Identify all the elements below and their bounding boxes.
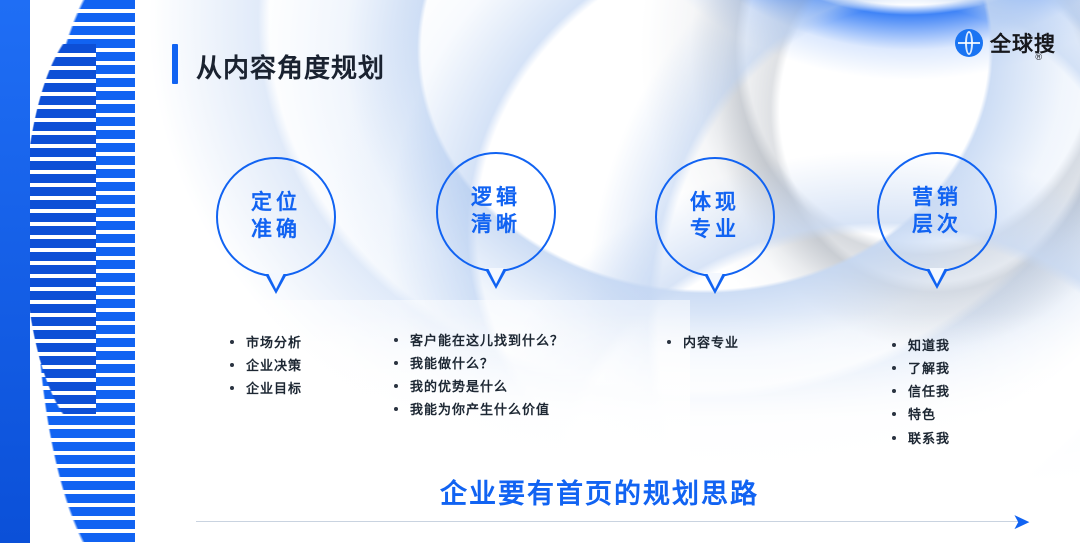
balloon-1-tail <box>265 274 287 294</box>
list-item: 我能为你产生什么价值 <box>392 400 564 420</box>
balloon-3-tail <box>704 274 726 294</box>
list-item: 市场分析 <box>228 333 302 353</box>
chevron-right-icon: ➤ <box>1012 511 1030 533</box>
list-item: 特色 <box>890 405 950 425</box>
title-accent-bar <box>172 44 178 84</box>
left-solid-bar <box>0 0 30 543</box>
brand-name: 全球搜 <box>990 28 1056 58</box>
list-item: 客户能在这儿找到什么？ <box>392 331 564 351</box>
bullet-group-2: 客户能在这儿找到什么？ 我能做什么？ 我的优势是什么 我能为你产生什么价值 <box>392 331 564 424</box>
balloon-2-line1: 逻辑 <box>471 185 521 212</box>
balloon-3: 体现 专业 <box>655 157 775 277</box>
balloon-4-line2: 层次 <box>912 212 962 239</box>
balloon-1-line1: 定位 <box>251 190 301 217</box>
balloon-4-line1: 营销 <box>912 185 962 212</box>
list-item: 我的优势是什么 <box>392 377 564 397</box>
balloon-4: 营销 层次 <box>877 152 997 272</box>
list-item: 内容专业 <box>665 333 739 353</box>
balloon-4-tail <box>926 269 948 289</box>
slide: 从内容角度规划 全球搜 ® 定位 准确 逻辑 清晰 体现 专业 营销 层次 市场… <box>0 0 1080 543</box>
list-item: 我能做什么？ <box>392 354 564 374</box>
globe-icon <box>955 29 983 57</box>
balloon-2-line2: 清晰 <box>471 212 521 239</box>
brand-logo: 全球搜 ® <box>955 28 1056 58</box>
background-decoration <box>0 0 1080 543</box>
bullet-group-1: 市场分析 企业决策 企业目标 <box>228 333 302 402</box>
balloon-2: 逻辑 清晰 <box>436 152 556 272</box>
balloon-3-line1: 体现 <box>690 190 740 217</box>
bullet-group-3: 内容专业 <box>665 333 739 356</box>
balloon-2-tail <box>485 269 507 289</box>
registered-mark: ® <box>1035 52 1042 62</box>
bullet-group-4: 知道我 了解我 信任我 特色 联系我 <box>890 336 950 452</box>
list-item: 联系我 <box>890 429 950 449</box>
footer-divider <box>196 521 1026 522</box>
balloon-1-line2: 准确 <box>251 217 301 244</box>
footer-headline: 企业要有首页的规划思路 <box>440 472 759 511</box>
list-item: 企业目标 <box>228 379 302 399</box>
balloon-1: 定位 准确 <box>216 157 336 277</box>
balloon-3-line2: 专业 <box>690 217 740 244</box>
list-item: 知道我 <box>890 336 950 356</box>
list-item: 信任我 <box>890 382 950 402</box>
list-item: 企业决策 <box>228 356 302 376</box>
page-title: 从内容角度规划 <box>196 48 385 85</box>
list-item: 了解我 <box>890 359 950 379</box>
